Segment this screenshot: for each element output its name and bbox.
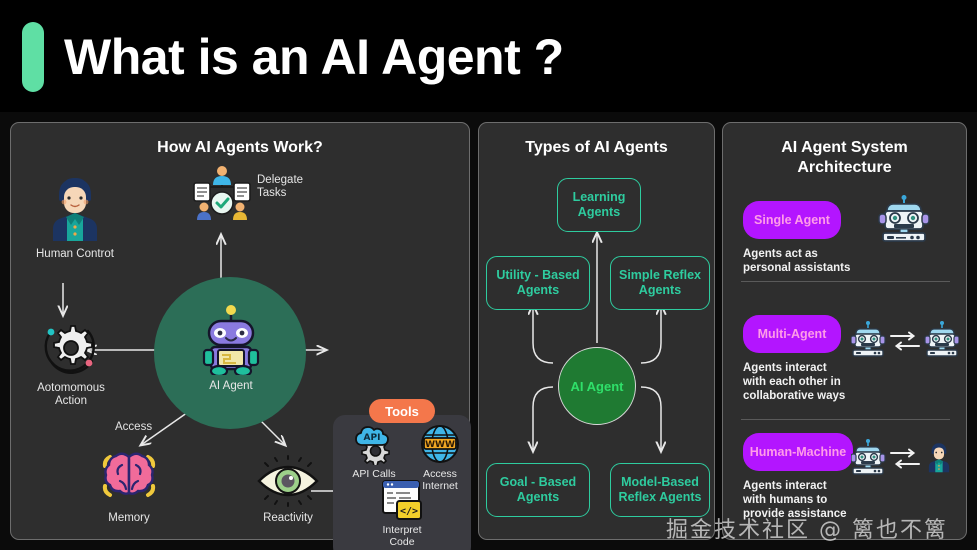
eye-icon bbox=[255, 455, 321, 507]
human-control-label: Human Controt bbox=[36, 248, 114, 261]
type-box-simple-reflex-agents[interactable]: Simple Reflex Agents bbox=[610, 256, 710, 310]
arch-pill-human-machine[interactable]: Human-Machine bbox=[743, 433, 853, 471]
multi-agent-icons bbox=[851, 321, 959, 365]
exchange-arrows-icon bbox=[891, 333, 919, 350]
page-title: What is an AI Agent ? bbox=[64, 22, 564, 92]
code-window-icon: </> bbox=[379, 479, 425, 521]
node-ai-agent: AI Agent bbox=[189, 303, 273, 393]
access-edge-label: Access bbox=[115, 421, 152, 433]
page-header: What is an AI Agent ? bbox=[0, 0, 977, 112]
reactivity-label: Reactivity bbox=[263, 512, 313, 525]
human-machine-icons bbox=[851, 439, 959, 485]
robot-icon bbox=[199, 303, 263, 375]
ai-agent-label: AI Agent bbox=[209, 380, 252, 393]
panel-types-of-ai-agents: Types of AI Agents Learning Agents Utili… bbox=[478, 122, 715, 540]
tool-api-calls: API API Calls bbox=[343, 423, 405, 480]
robot-icon bbox=[851, 321, 885, 356]
svg-text:WWW: WWW bbox=[425, 440, 455, 450]
api-cloud-gear-icon: API bbox=[353, 423, 395, 465]
svg-text:API: API bbox=[364, 433, 381, 443]
arch-pill-multi-agent[interactable]: Multi-Agent bbox=[743, 315, 841, 353]
node-reactivity: Reactivity bbox=[243, 455, 333, 525]
person-icon bbox=[929, 443, 949, 472]
arch-divider-1 bbox=[741, 281, 950, 282]
arch-desc-single-agent: Agents act as personal assistants bbox=[743, 247, 850, 275]
type-box-learning-agents[interactable]: Learning Agents bbox=[557, 178, 641, 232]
node-autonomous-action: Aotomomous Action bbox=[23, 319, 119, 408]
exchange-arrows-icon bbox=[891, 450, 919, 468]
type-box-utility-based-agents[interactable]: Utility - Based Agents bbox=[486, 256, 590, 310]
node-human-control: Human Controt bbox=[27, 173, 123, 261]
globe-www-icon: WWW bbox=[419, 423, 461, 465]
robot-icon bbox=[925, 321, 959, 356]
types-center-ai-agent: AI Agent bbox=[558, 347, 636, 425]
panel-work-title: How AI Agents Work? bbox=[11, 139, 469, 157]
watermark: 掘金技术社区 @ 篱也不篱 bbox=[666, 512, 948, 544]
type-box-model-based-reflex-agents[interactable]: Model-Based Reflex Agents bbox=[610, 463, 710, 517]
arch-divider-2 bbox=[741, 419, 950, 420]
gear-orbit-icon bbox=[42, 319, 100, 377]
memory-label: Memory bbox=[108, 512, 150, 525]
tool-interpret-code: </> Interpret Code bbox=[371, 479, 433, 548]
svg-text:</>: </> bbox=[400, 506, 418, 517]
title-accent-bar bbox=[22, 22, 44, 92]
type-box-goal-based-agents[interactable]: Goal - Based Agents bbox=[486, 463, 590, 517]
robot-icon bbox=[851, 439, 885, 474]
autonomous-action-label: Aotomomous Action bbox=[37, 382, 105, 408]
arch-pill-single-agent[interactable]: Single Agent bbox=[743, 201, 841, 239]
panel-ai-agent-system-architecture: AI Agent System Architecture Single Agen… bbox=[722, 122, 967, 540]
node-memory: Memory bbox=[87, 445, 171, 525]
org-chart-check-icon bbox=[191, 165, 253, 223]
tool-interpret-code-label: Interpret Code bbox=[371, 524, 433, 548]
tools-badge: Tools bbox=[369, 399, 435, 423]
brain-icon bbox=[98, 445, 160, 507]
panel-how-ai-agents-work: How AI Agents Work? bbox=[10, 122, 470, 540]
panel-arch-title: AI Agent System Architecture bbox=[723, 138, 966, 178]
panel-types-title: Types of AI Agents bbox=[479, 139, 714, 157]
node-delegate-tasks: Delegate Tasks bbox=[191, 165, 253, 228]
person-icon bbox=[49, 173, 101, 243]
arch-desc-multi-agent: Agents interact with each other in colla… bbox=[743, 361, 845, 403]
robot-icon bbox=[875, 195, 933, 243]
delegate-tasks-label: Delegate Tasks bbox=[257, 174, 303, 200]
infographic-root: What is an AI Agent ? How AI Agents Work… bbox=[0, 0, 977, 550]
